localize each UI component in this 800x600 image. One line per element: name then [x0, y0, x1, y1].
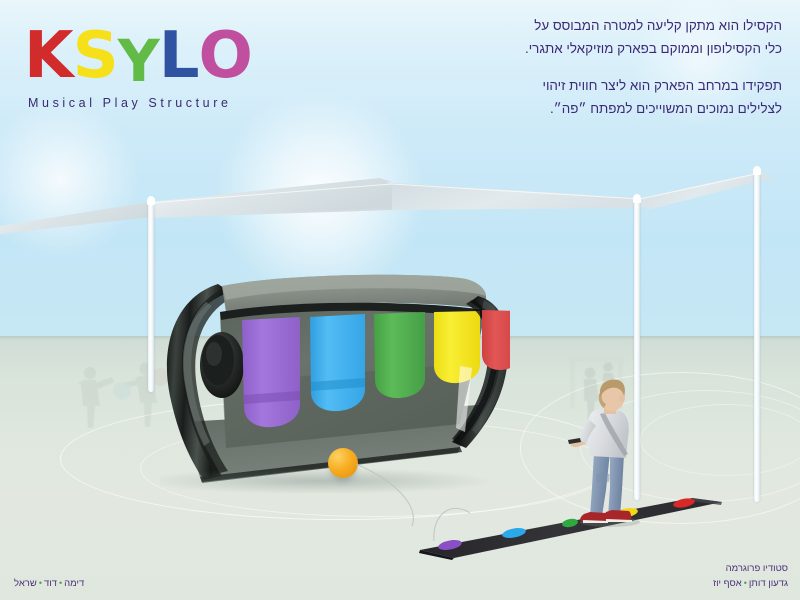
credit-team: דימה•דוד•שראל — [14, 576, 84, 592]
logo-tagline: Musical Play Structure — [28, 96, 284, 110]
credit-person-4: דוד — [44, 578, 57, 589]
logo-letter-k: K — [24, 24, 73, 88]
credit-team-people: דימה•דוד•שראל — [14, 576, 84, 592]
shade-mast-right — [754, 172, 760, 502]
key-red — [482, 310, 510, 370]
logo-letter-l: L — [159, 24, 199, 88]
logo-letter-s: S — [73, 24, 118, 88]
shade-sail — [0, 150, 800, 280]
logo[interactable]: KSYLO Musical Play Structure — [24, 24, 284, 104]
credit-person-3: דימה — [64, 578, 84, 589]
shade-mast-cap — [633, 194, 641, 203]
headline-text: הקסילו הוא מתקן קליעה למטרה המבוסס על כל… — [262, 14, 782, 120]
credit-person-2: אסף יוז — [713, 578, 742, 589]
headline-p2-l2: לצלילים נמוכים המשוייכים למפתח ״פה״. — [262, 97, 782, 120]
ground-arc — [640, 404, 800, 476]
credit-person-5: שראל — [14, 578, 37, 589]
scene-canvas: KSYLO Musical Play Structure הקסילו הוא … — [0, 0, 800, 600]
headline-spacer — [262, 60, 782, 74]
child-figure — [566, 378, 658, 528]
headline-p1-l1: הקסילו הוא מתקן קליעה למטרה המבוסס על — [262, 14, 782, 37]
logo-letter-o: O — [198, 24, 251, 88]
credit-separator: • — [742, 578, 749, 588]
logo-wordmark: KSYLO — [24, 24, 284, 90]
headline-p1-l2: כלי הקסילופון וממוקם בפארק מוזיקאלי אתגר… — [262, 37, 782, 60]
credit-studio-name: סטודיו פרוגרמה — [713, 561, 788, 577]
credit-studio: סטודיו פרוגרמה גדעון דותן•אסף יוז — [713, 561, 788, 592]
shade-mast-left — [148, 202, 154, 392]
shade-mast-cap — [147, 196, 155, 205]
credit-separator: • — [37, 578, 44, 588]
credit-person-1: גדעון דותן — [749, 578, 788, 589]
headline-p2-l1: תפקידו במרחב הפארק הוא ליצר חווית זיהוי — [262, 74, 782, 97]
shade-mast-cap — [753, 166, 761, 175]
credit-studio-people: גדעון דותן•אסף יוז — [713, 576, 788, 592]
logo-letter-y: Y — [118, 32, 159, 90]
